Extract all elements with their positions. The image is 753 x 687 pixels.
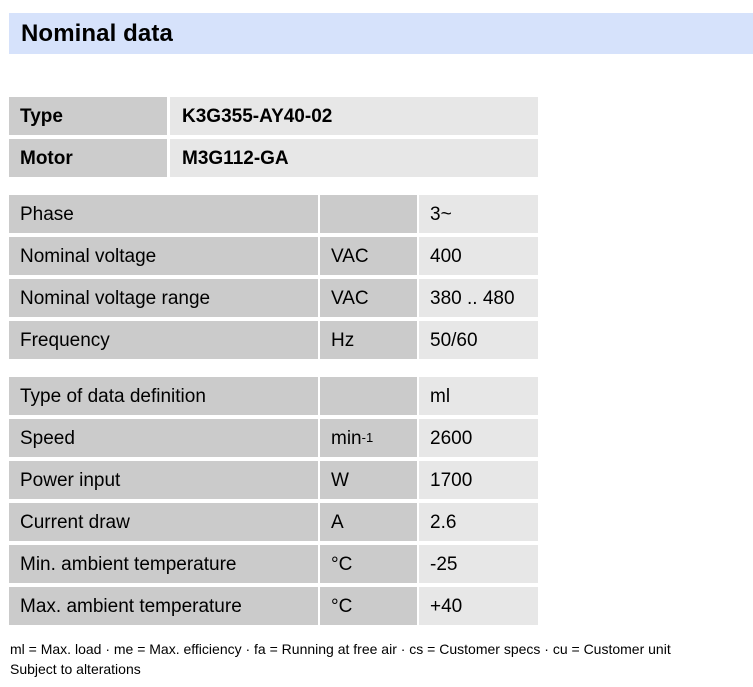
row-label: Current draw xyxy=(9,503,318,541)
row-unit-text: °C xyxy=(331,555,352,574)
row-value: 1700 xyxy=(419,461,538,499)
row-unit: W xyxy=(320,461,417,499)
row-value: K3G355-AY40-02 xyxy=(170,97,538,135)
table-row: Power input W 1700 xyxy=(9,461,538,499)
performance-block: Type of data definition ml Speed min-1 2… xyxy=(9,377,538,625)
row-unit: °C xyxy=(320,545,417,583)
page-title: Nominal data xyxy=(9,22,173,46)
row-unit: °C xyxy=(320,587,417,625)
table-row: Type K3G355-AY40-02 xyxy=(9,97,538,135)
row-label: Max. ambient temperature xyxy=(9,587,318,625)
footnote-abbreviations: ml = Max. load · me = Max. efficiency · … xyxy=(10,639,750,659)
row-unit xyxy=(320,377,417,415)
row-label: Min. ambient temperature xyxy=(9,545,318,583)
row-unit-text: W xyxy=(331,471,349,490)
table-row: Current draw A 2.6 xyxy=(9,503,538,541)
table-row: Min. ambient temperature °C -25 xyxy=(9,545,538,583)
row-label: Frequency xyxy=(9,321,318,359)
row-label: Type of data definition xyxy=(9,377,318,415)
row-value: -25 xyxy=(419,545,538,583)
row-label: Type xyxy=(9,97,167,135)
table-row: Max. ambient temperature °C +40 xyxy=(9,587,538,625)
row-value: +40 xyxy=(419,587,538,625)
table-row: Type of data definition ml xyxy=(9,377,538,415)
row-unit: min-1 xyxy=(320,419,417,457)
row-value: M3G112-GA xyxy=(170,139,538,177)
electrical-block: Phase 3~ Nominal voltage VAC 400 Nominal… xyxy=(9,195,538,359)
footnote-disclaimer: Subject to alterations xyxy=(10,659,750,679)
row-unit-text: A xyxy=(331,513,344,532)
table-row: Motor M3G112-GA xyxy=(9,139,538,177)
row-unit-text: min xyxy=(331,429,362,448)
row-value: 50/60 xyxy=(419,321,538,359)
row-label: Speed xyxy=(9,419,318,457)
row-value: 2600 xyxy=(419,419,538,457)
nominal-data-table: Type K3G355-AY40-02 Motor M3G112-GA Phas… xyxy=(9,97,538,625)
table-row: Frequency Hz 50/60 xyxy=(9,321,538,359)
row-label: Power input xyxy=(9,461,318,499)
row-label: Nominal voltage range xyxy=(9,279,318,317)
row-value: 400 xyxy=(419,237,538,275)
table-row: Speed min-1 2600 xyxy=(9,419,538,457)
footnotes: ml = Max. load · me = Max. efficiency · … xyxy=(10,639,750,680)
nominal-data-header: Nominal data xyxy=(9,13,753,54)
row-unit: Hz xyxy=(320,321,417,359)
table-row: Phase 3~ xyxy=(9,195,538,233)
row-value: 2.6 xyxy=(419,503,538,541)
row-unit: VAC xyxy=(320,237,417,275)
table-row: Nominal voltage VAC 400 xyxy=(9,237,538,275)
row-value: 380 .. 480 xyxy=(419,279,538,317)
identity-block: Type K3G355-AY40-02 Motor M3G112-GA xyxy=(9,97,538,177)
row-value: 3~ xyxy=(419,195,538,233)
row-label: Motor xyxy=(9,139,167,177)
row-unit-text: °C xyxy=(331,597,352,616)
row-unit: VAC xyxy=(320,279,417,317)
table-row: Nominal voltage range VAC 380 .. 480 xyxy=(9,279,538,317)
row-value: ml xyxy=(419,377,538,415)
row-unit: A xyxy=(320,503,417,541)
row-unit xyxy=(320,195,417,233)
row-label: Phase xyxy=(9,195,318,233)
row-label: Nominal voltage xyxy=(9,237,318,275)
